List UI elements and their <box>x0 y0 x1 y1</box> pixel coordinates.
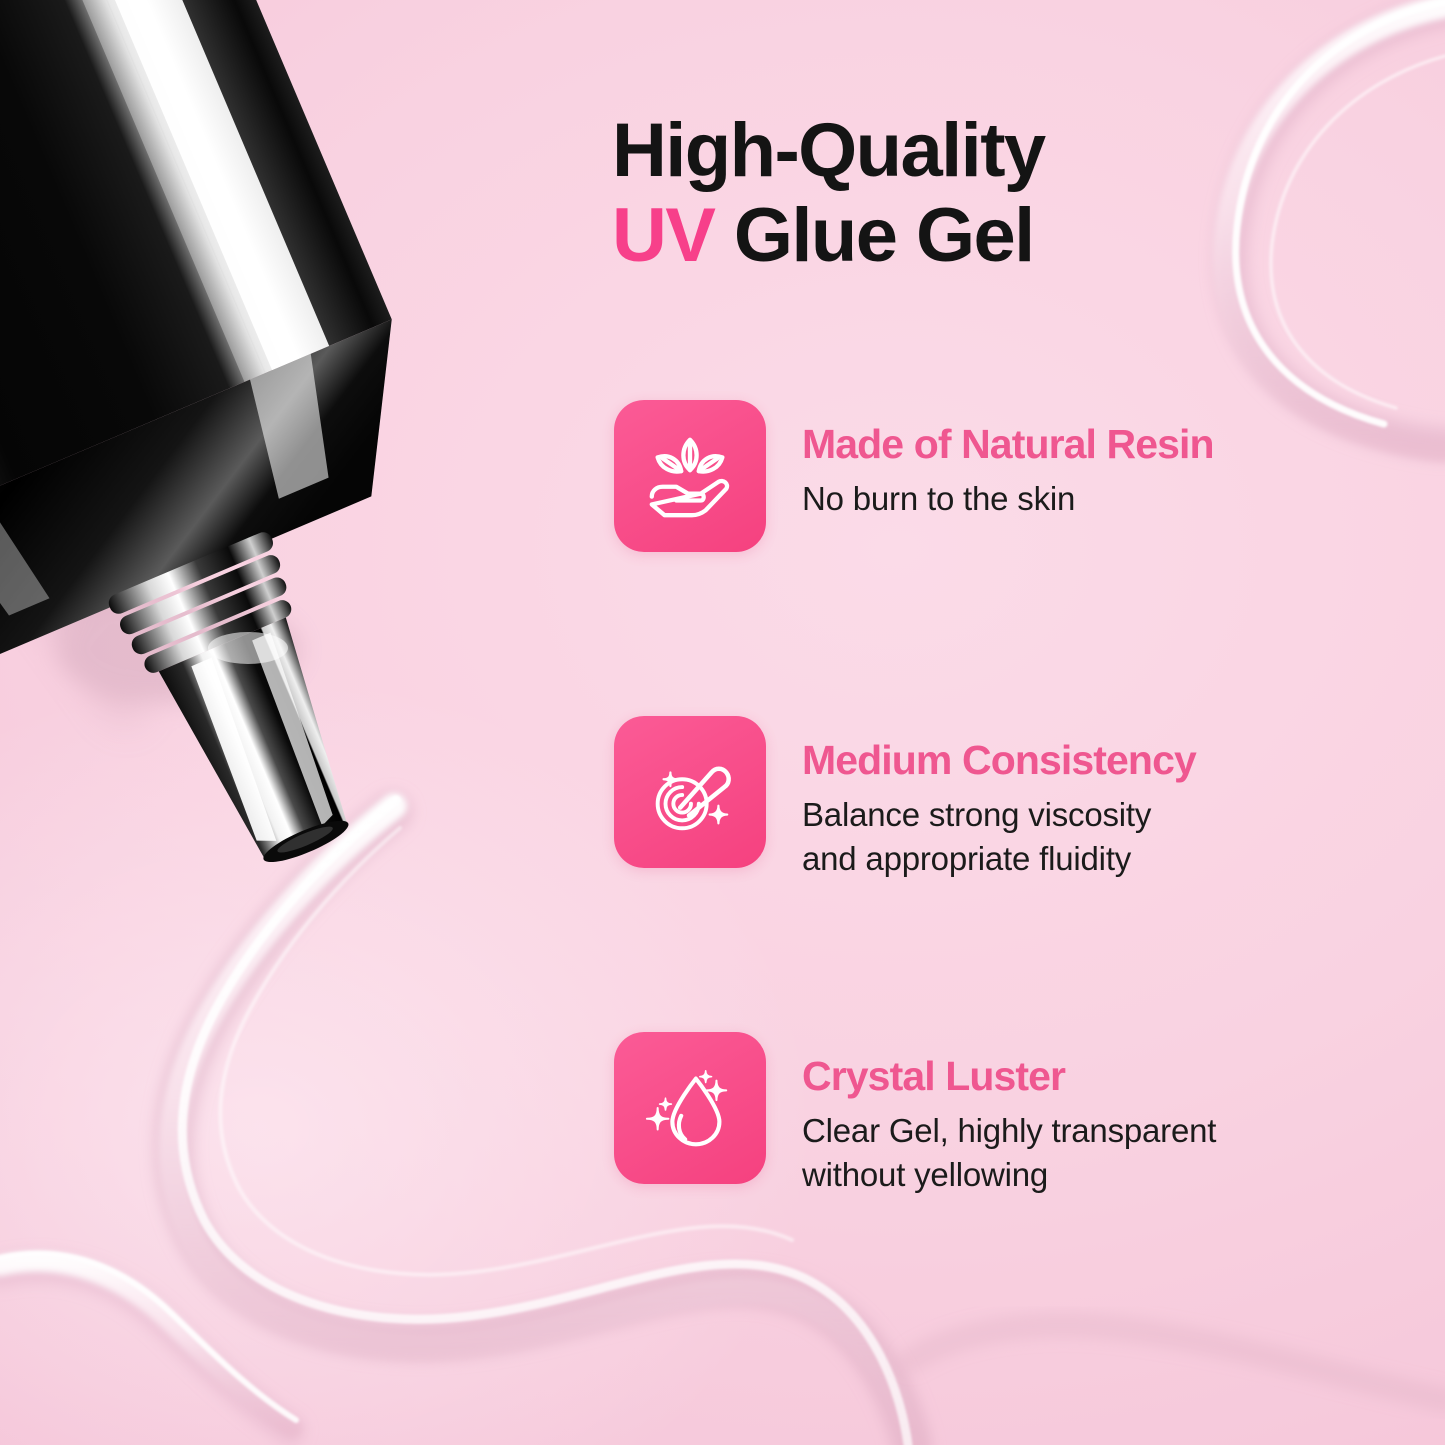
feature-desc-line: No burn to the skin <box>802 477 1214 521</box>
feature-description: No burn to the skin <box>802 477 1214 521</box>
feature-title: Medium Consistency <box>802 738 1196 782</box>
feature-text: Made of Natural Resin No burn to the ski… <box>766 400 1214 521</box>
headline-line-2: UV Glue Gel <box>612 193 1392 278</box>
feature-description: Balance strong viscosity and appropriate… <box>802 793 1196 881</box>
feature-item: Medium Consistency Balance strong viscos… <box>614 716 1196 881</box>
feature-item: Made of Natural Resin No burn to the ski… <box>614 400 1214 552</box>
droplet-sparkle-icon <box>641 1059 739 1157</box>
feature-desc-line: Balance strong viscosity <box>802 793 1196 837</box>
feature-desc-line: without yellowing <box>802 1153 1216 1197</box>
feature-item: Crystal Luster Clear Gel, highly transpa… <box>614 1032 1216 1197</box>
feature-icon-tile <box>614 400 766 552</box>
feature-desc-line: and appropriate fluidity <box>802 837 1196 881</box>
feature-title: Crystal Luster <box>802 1054 1216 1098</box>
feature-description: Clear Gel, highly transparent without ye… <box>802 1109 1216 1197</box>
product-infographic: Net Wt. 0.53 oz / 15 g High-Quality UV G… <box>0 0 1445 1445</box>
feature-desc-line: Clear Gel, highly transparent <box>802 1109 1216 1153</box>
headline-block: High-Quality UV Glue Gel <box>612 108 1392 278</box>
feature-text: Crystal Luster Clear Gel, highly transpa… <box>766 1032 1216 1197</box>
headline-uv-accent: UV <box>612 193 714 278</box>
headline-line-2-rest: Glue Gel <box>714 193 1033 278</box>
feature-title: Made of Natural Resin <box>802 422 1214 466</box>
feature-text: Medium Consistency Balance strong viscos… <box>766 716 1196 881</box>
feature-icon-tile <box>614 716 766 868</box>
applicator-swirl-sparkle-icon <box>641 743 739 841</box>
hand-holding-leaves-icon <box>641 427 739 525</box>
feature-icon-tile <box>614 1032 766 1184</box>
headline-line-1: High-Quality <box>612 108 1392 193</box>
